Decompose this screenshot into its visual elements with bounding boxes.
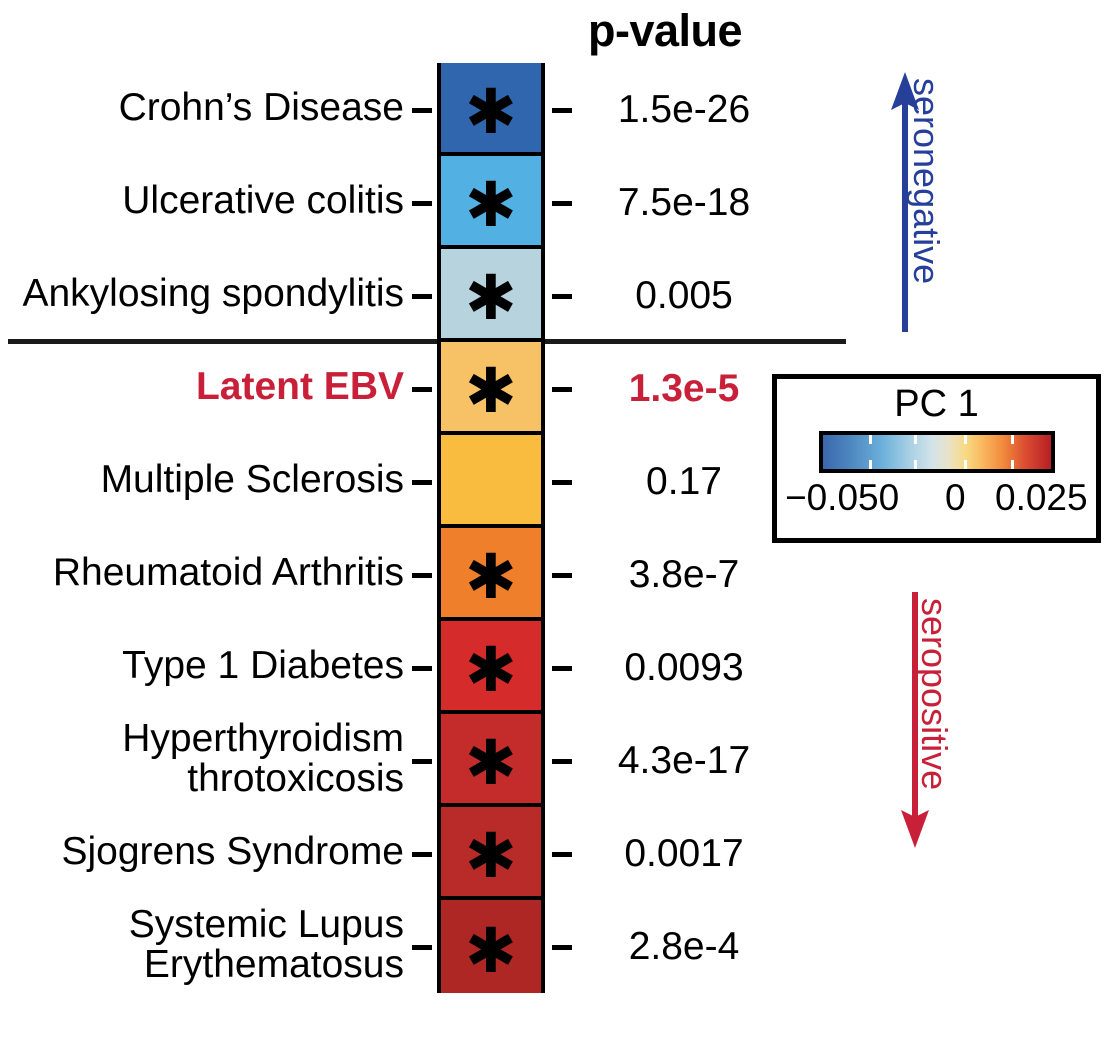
row-label: Rheumatoid Arthritis bbox=[0, 553, 404, 593]
pvalue-cell: 2.8e-4 bbox=[584, 927, 784, 966]
pvalue-cell: 4.3e-17 bbox=[584, 741, 784, 780]
colorbar-tick-label-min: −0.050 bbox=[785, 479, 899, 516]
colorbar-tick-labels: −0.050 0 0.025 bbox=[777, 479, 1096, 529]
pvalue-cell: 1.3e-5 bbox=[584, 369, 784, 408]
heatmap-cell: ✱ bbox=[441, 63, 541, 156]
heatmap-cell bbox=[441, 435, 541, 528]
row-tick-left bbox=[412, 201, 432, 206]
row-tick-right bbox=[552, 573, 572, 578]
row-label-line: Sjogrens Syndrome bbox=[0, 832, 404, 872]
pvalue-cell: 0.005 bbox=[584, 276, 784, 315]
colorbar-tick-2-bottom bbox=[914, 460, 917, 469]
colorbar-tick-3-top bbox=[964, 435, 967, 444]
pvalue-cell: 7.5e-18 bbox=[584, 183, 784, 222]
heatmap-cell: ✱ bbox=[441, 528, 541, 621]
group-divider-line bbox=[8, 339, 846, 344]
heatmap-cell: ✱ bbox=[441, 714, 541, 807]
heatmap-cell: ✱ bbox=[441, 156, 541, 249]
row-label-line: Type 1 Diabetes bbox=[0, 646, 404, 686]
row-label: Ankylosing spondylitis bbox=[0, 274, 404, 314]
colorbar-tick-2-top bbox=[914, 435, 917, 444]
row-tick-left bbox=[412, 852, 432, 857]
row-label-line: Latent EBV bbox=[0, 367, 404, 407]
colorbar-legend: PC 1 −0.050 0 0.025 bbox=[772, 374, 1101, 543]
row-tick-right bbox=[552, 387, 572, 392]
row-label-line: Erythematosus bbox=[0, 945, 404, 985]
seronegative-annotation: seronegative bbox=[885, 70, 955, 335]
row-label-line: Hyperthyroidism bbox=[0, 719, 404, 759]
heatmap-cell: ✱ bbox=[441, 900, 541, 993]
row-tick-right bbox=[552, 480, 572, 485]
colorbar-title: PC 1 bbox=[777, 385, 1096, 423]
row-label-line: Systemic Lupus bbox=[0, 905, 404, 945]
pvalue-cell: 0.0093 bbox=[584, 648, 784, 687]
colorbar-tick-3-bottom bbox=[964, 460, 967, 469]
seronegative-label: seronegative bbox=[905, 78, 947, 284]
row-tick-right bbox=[552, 759, 572, 764]
row-tick-right bbox=[552, 201, 572, 206]
colorbar-tick-1-top bbox=[869, 435, 872, 444]
pvalue-cell: 0.17 bbox=[584, 462, 784, 501]
colorbar-gradient bbox=[823, 435, 1051, 469]
row-tick-left bbox=[412, 480, 432, 485]
row-tick-left bbox=[412, 759, 432, 764]
heatmap-cell: ✱ bbox=[441, 807, 541, 900]
row-label: Ulcerative colitis bbox=[0, 181, 404, 221]
row-tick-left bbox=[412, 387, 432, 392]
row-label: Hyperthyroidismthrotoxicosis bbox=[0, 719, 404, 799]
row-tick-right bbox=[552, 945, 572, 950]
row-label: Multiple Sclerosis bbox=[0, 460, 404, 500]
colorbar-tick-label-zero: 0 bbox=[945, 479, 966, 516]
row-label: Sjogrens Syndrome bbox=[0, 832, 404, 872]
pvalue-cell: 0.0017 bbox=[584, 834, 784, 873]
heatmap-cell: ✱ bbox=[441, 621, 541, 714]
row-label-line: throtoxicosis bbox=[0, 759, 404, 799]
row-label: Crohn’s Disease bbox=[0, 88, 404, 128]
colorbar-tick-4-top bbox=[1011, 435, 1014, 444]
heatmap-cell: ✱ bbox=[441, 342, 541, 435]
row-tick-left bbox=[412, 294, 432, 299]
row-label-line: Ulcerative colitis bbox=[0, 181, 404, 221]
row-tick-left bbox=[412, 108, 432, 113]
pvalue-column-header: p-value bbox=[588, 8, 828, 53]
colorbar-tick-1-bottom bbox=[869, 460, 872, 469]
row-tick-left bbox=[412, 666, 432, 671]
row-label-line: Ankylosing spondylitis bbox=[0, 274, 404, 314]
pc1-disease-heatmap-figure: p-value ✱✱✱✱✱✱✱✱✱ Crohn’s Disease1.5e-26… bbox=[0, 0, 1116, 1044]
row-tick-right bbox=[552, 852, 572, 857]
seropositive-annotation: seropositive bbox=[895, 590, 965, 850]
row-label: Latent EBV bbox=[0, 367, 404, 407]
heatmap-column: ✱✱✱✱✱✱✱✱✱ bbox=[437, 63, 545, 993]
row-label: Systemic LupusErythematosus bbox=[0, 905, 404, 985]
row-tick-right bbox=[552, 294, 572, 299]
heatmap-cell: ✱ bbox=[441, 249, 541, 342]
row-tick-left bbox=[412, 945, 432, 950]
row-tick-left bbox=[412, 573, 432, 578]
row-label-line: Crohn’s Disease bbox=[0, 88, 404, 128]
colorbar-tick-4-bottom bbox=[1011, 460, 1014, 469]
colorbar-tick-label-max: 0.025 bbox=[995, 479, 1088, 516]
row-tick-right bbox=[552, 108, 572, 113]
row-label-line: Multiple Sclerosis bbox=[0, 460, 404, 500]
row-label: Type 1 Diabetes bbox=[0, 646, 404, 686]
row-label-line: Rheumatoid Arthritis bbox=[0, 553, 404, 593]
pvalue-cell: 1.5e-26 bbox=[584, 90, 784, 129]
seropositive-label: seropositive bbox=[913, 598, 955, 790]
colorbar bbox=[819, 431, 1055, 473]
row-tick-right bbox=[552, 666, 572, 671]
pvalue-cell: 3.8e-7 bbox=[584, 555, 784, 594]
